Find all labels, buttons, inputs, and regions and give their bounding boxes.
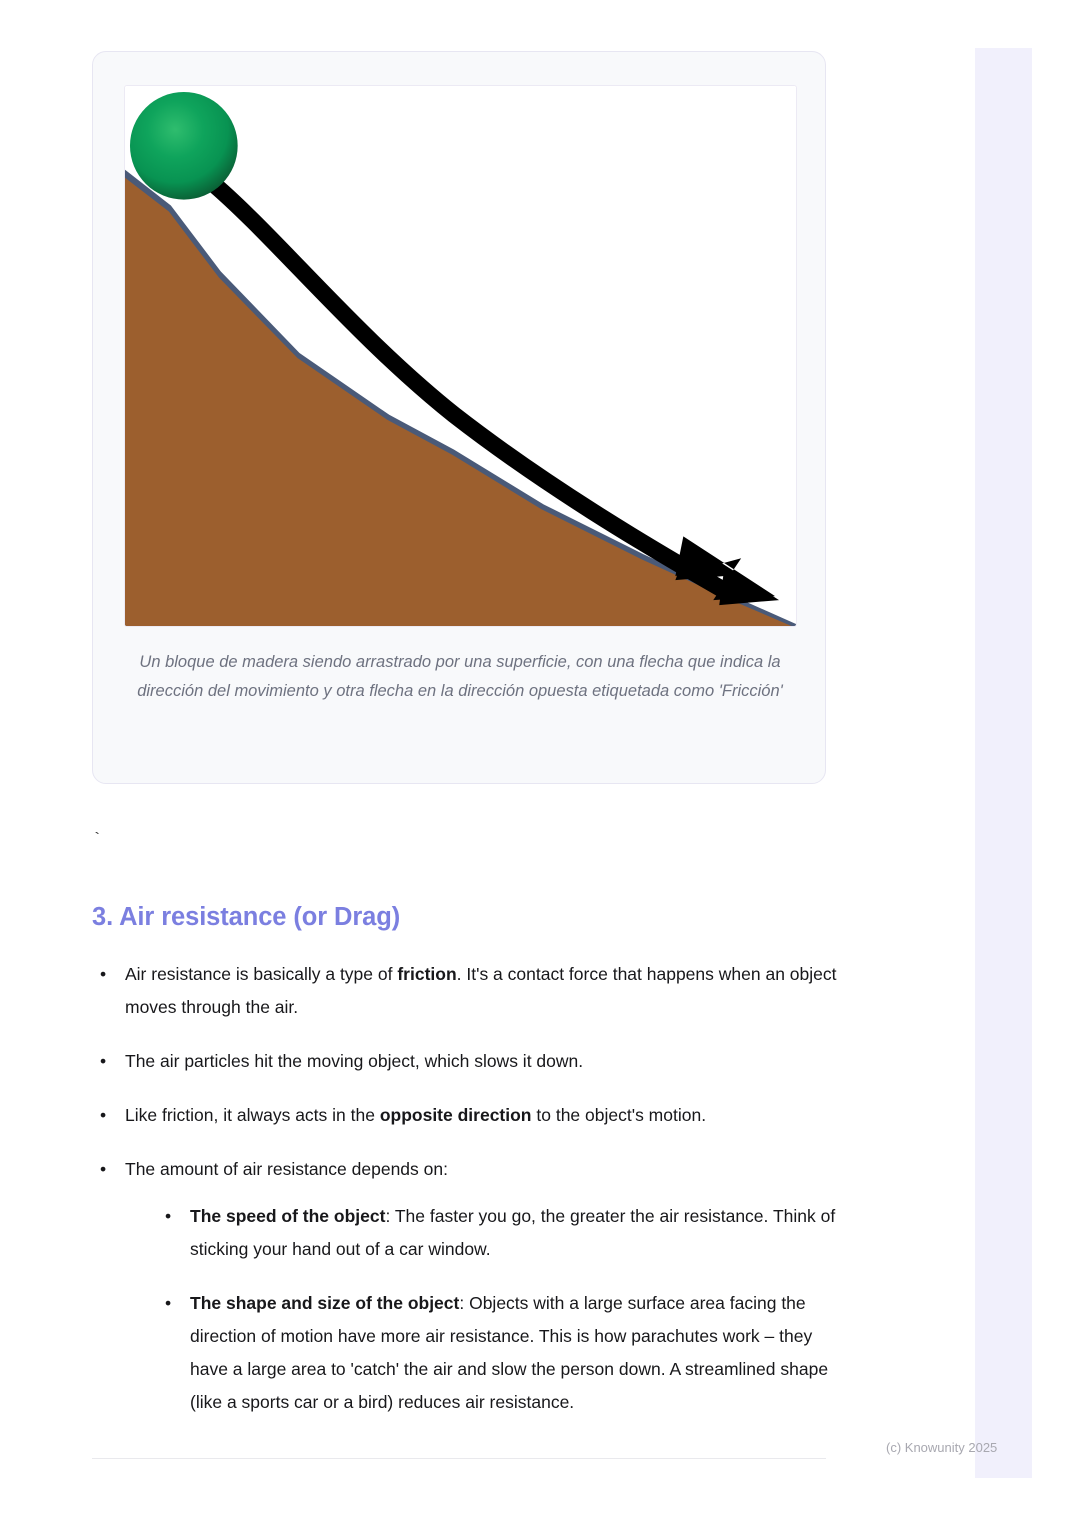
right-rail-panel: [975, 48, 1032, 1478]
bullet-item: Like friction, it always acts in the opp…: [92, 1099, 852, 1132]
bullet-list-level-2: The speed of the object: The faster you …: [125, 1200, 852, 1419]
page-root: Un bloque de madera siendo arrastrado po…: [0, 0, 1080, 1528]
figure-image-frame: [124, 85, 797, 627]
bullet-emphasis: The speed of the object: [190, 1206, 385, 1226]
bullet-item: The air particles hit the moving object,…: [92, 1045, 852, 1078]
figure-card: Un bloque de madera siendo arrastrado po…: [92, 51, 826, 784]
slope-illustration-svg: [125, 86, 796, 626]
bullet-emphasis: friction: [397, 964, 456, 984]
copyright-watermark: (c) Knowunity 2025: [886, 1439, 997, 1457]
bullet-item: Air resistance is basically a type of fr…: [92, 958, 852, 1024]
bullet-emphasis: opposite direction: [380, 1105, 532, 1125]
section-heading: 3. Air resistance (or Drag): [92, 903, 400, 932]
bullet-emphasis: The shape and size of the object: [190, 1293, 459, 1313]
sub-bullet-item: The speed of the object: The faster you …: [157, 1200, 852, 1266]
bullet-text: The amount of air resistance depends on:: [125, 1159, 448, 1179]
sub-bullet-item: The shape and size of the object: Object…: [157, 1287, 852, 1419]
bullet-text: to the object's motion.: [532, 1105, 707, 1125]
green-ball: [130, 92, 238, 200]
bullet-list-level-1: Air resistance is basically a type of fr…: [92, 958, 852, 1419]
bullet-text: Air resistance is basically a type of: [125, 964, 397, 984]
stray-backtick-text: `: [92, 828, 102, 854]
footer-divider: [92, 1458, 826, 1459]
bullet-text: The air particles hit the moving object,…: [125, 1051, 583, 1071]
figure-caption: Un bloque de madera siendo arrastrado po…: [127, 648, 793, 706]
bullet-list-container: Air resistance is basically a type of fr…: [92, 958, 852, 1440]
bullet-item: The amount of air resistance depends on:…: [92, 1153, 852, 1419]
bullet-text: Like friction, it always acts in the: [125, 1105, 380, 1125]
